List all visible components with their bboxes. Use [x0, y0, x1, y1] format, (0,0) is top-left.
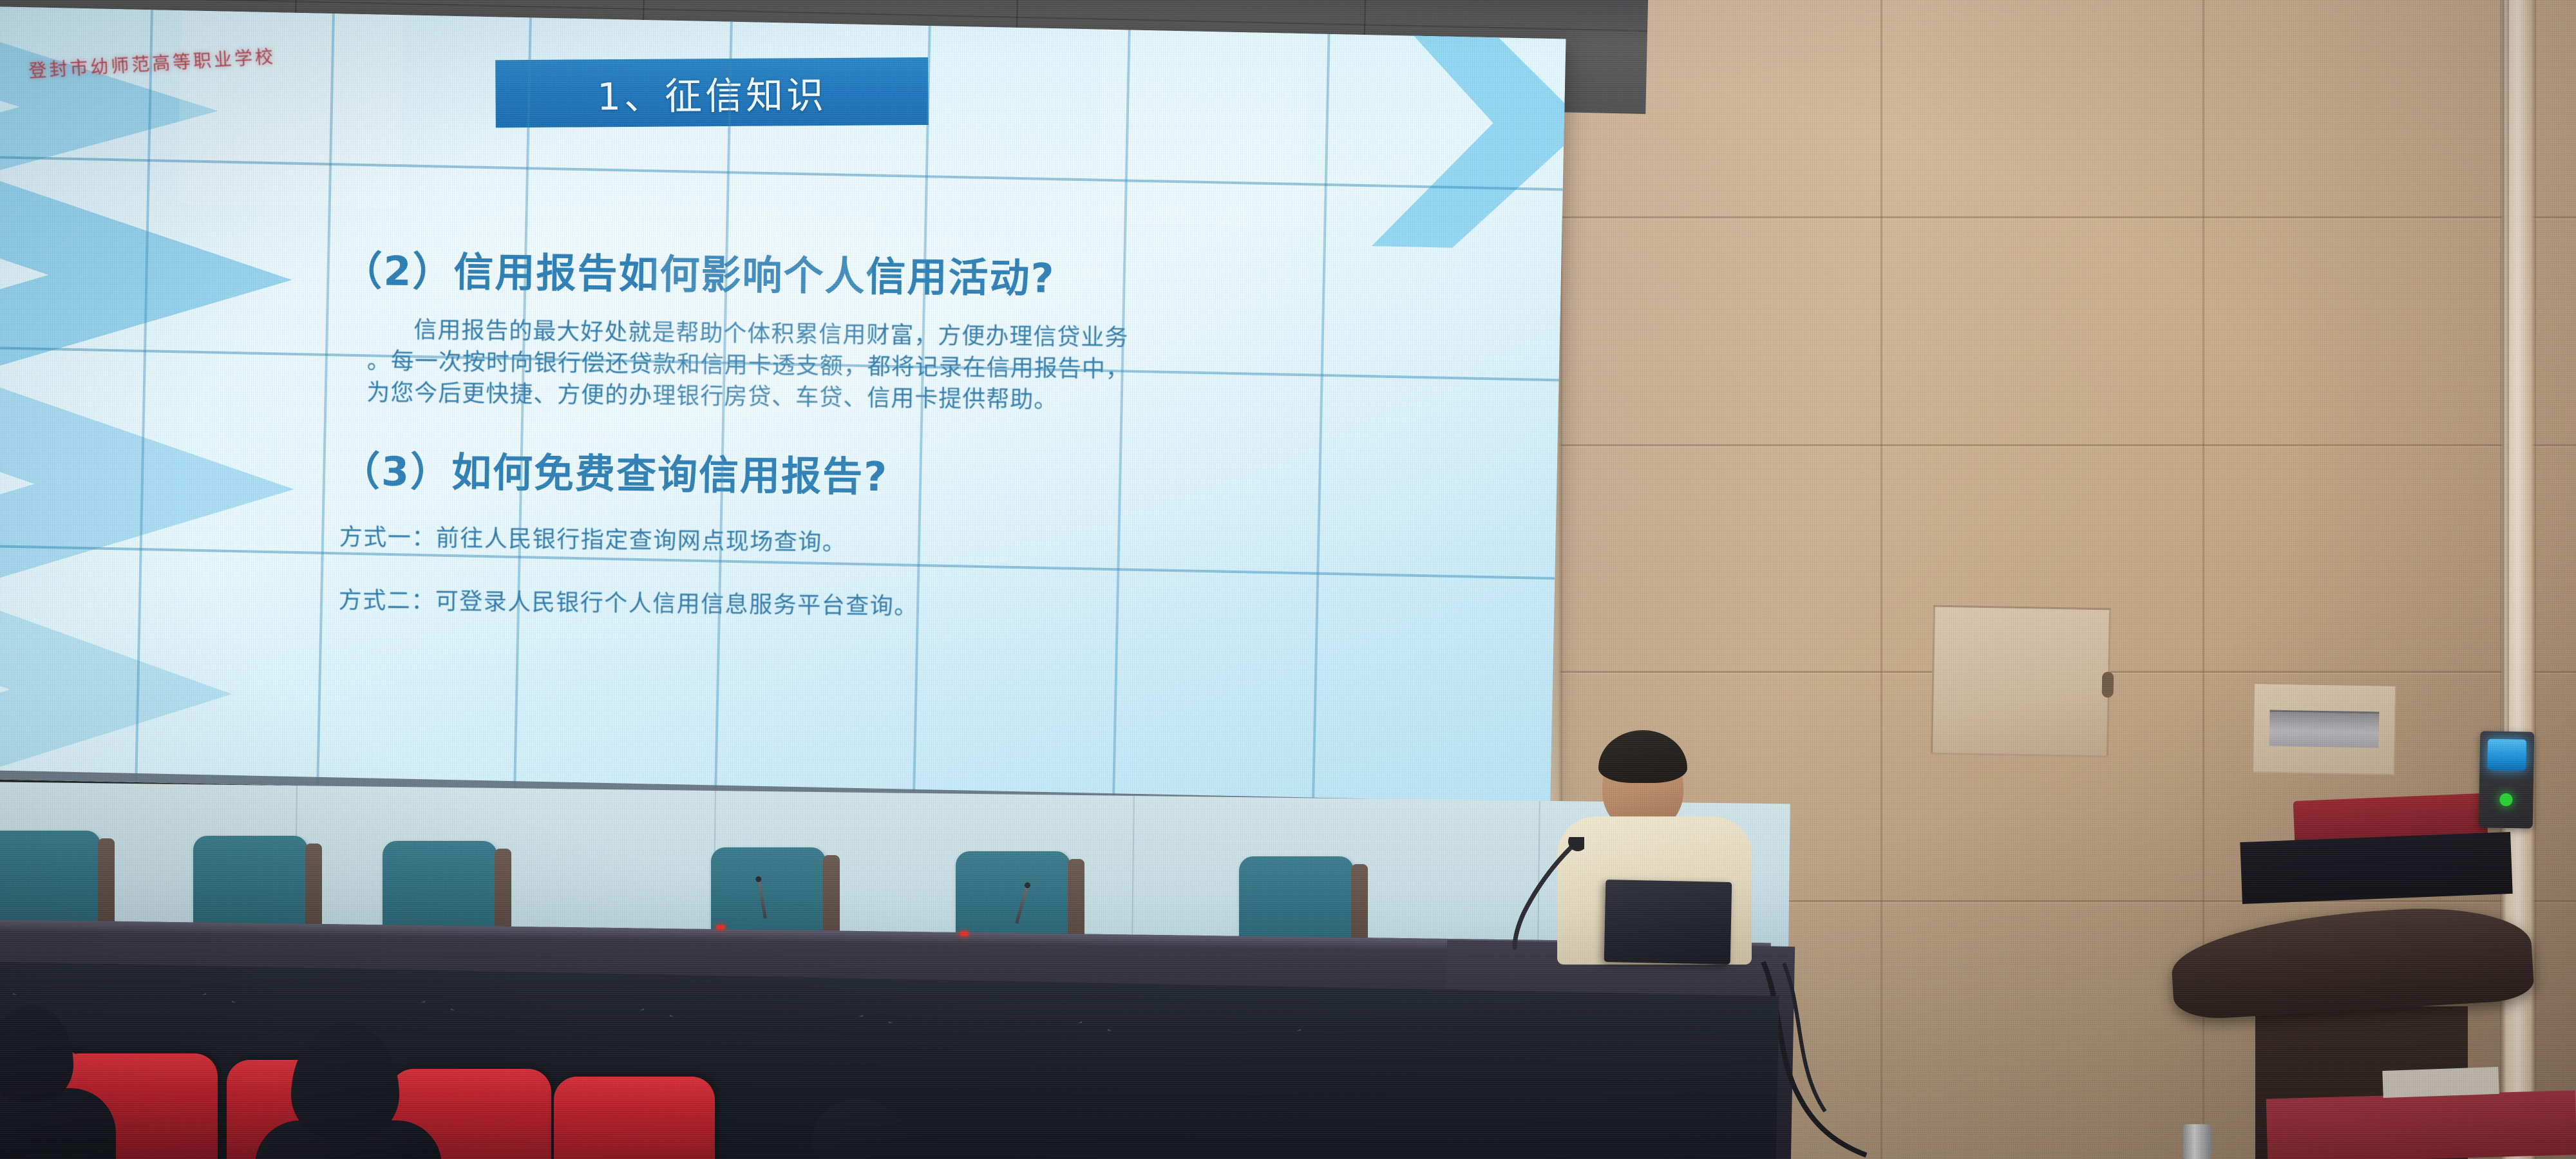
slide-title-banner: 1、征信知识 [495, 57, 929, 127]
slide-method-two: 方式二：可登录人民银行个人信用信息服务平台查询。 [339, 581, 1466, 627]
presenter-laptop[interactable] [1604, 880, 1732, 965]
chevron-left-icon [0, 361, 296, 605]
lecture-hall-scene: 1、征信知识 （2）信用报告如何影响个人信用活动? 信用报告的最大好处就是帮助个… [0, 0, 2576, 1159]
presenter-hair [1598, 730, 1687, 783]
audience-seat[interactable] [554, 1077, 715, 1159]
slide-paragraph-section-2: 信用报告的最大好处就是帮助个体积累信用财富，方便办理信贷业务 。每一次按时向银行… [366, 314, 1244, 419]
slide-title-text: 1、征信知识 [597, 65, 827, 120]
recessed-wall-box[interactable] [2252, 683, 2396, 775]
stage-wall-seam [1537, 801, 1540, 956]
status-led-icon [2499, 793, 2512, 806]
stage-chair[interactable] [193, 836, 308, 932]
slide-heading-section-2: （2）信用报告如何影响个人信用活动? [342, 238, 1470, 308]
wall-seam-horizontal [1533, 444, 2576, 446]
stage-chair[interactable] [383, 841, 497, 938]
lectern-red-cloth-front [2266, 1090, 2576, 1159]
lectern-shelf [2240, 832, 2512, 904]
chevron-left-icon [0, 580, 234, 797]
chevron-right-icon [1372, 6, 1566, 250]
slide-body: （2）信用报告如何影响个人信用活动? 信用报告的最大好处就是帮助个体积累信用财富… [339, 238, 1470, 627]
lectern-paper [2382, 1067, 2499, 1098]
microphone-led [716, 925, 725, 930]
wall-box-slot [2269, 710, 2380, 748]
slide-heading-section-3: （3）如何免费查询信用报告? [340, 438, 1468, 509]
wall-controller-device[interactable] [2479, 731, 2535, 828]
presentation-slide: 1、征信知识 （2）信用报告如何影响个人信用活动? 信用报告的最大好处就是帮助个… [0, 6, 1566, 811]
lectern-top [2169, 902, 2535, 1021]
led-video-wall[interactable]: 1、征信知识 （2）信用报告如何影响个人信用活动? 信用报告的最大好处就是帮助个… [0, 6, 1566, 811]
stage-chair[interactable] [0, 831, 100, 927]
stage-wall-seam [1132, 796, 1135, 950]
controller-display [2487, 739, 2526, 770]
beverage-can[interactable] [2183, 1124, 2211, 1159]
microphone-led [960, 931, 969, 936]
wall-seam-vertical [1880, 0, 1882, 1159]
wall-conduit [2503, 0, 2509, 734]
wall-access-panel[interactable] [1931, 605, 2111, 758]
wall-seam-horizontal [1533, 216, 2576, 218]
